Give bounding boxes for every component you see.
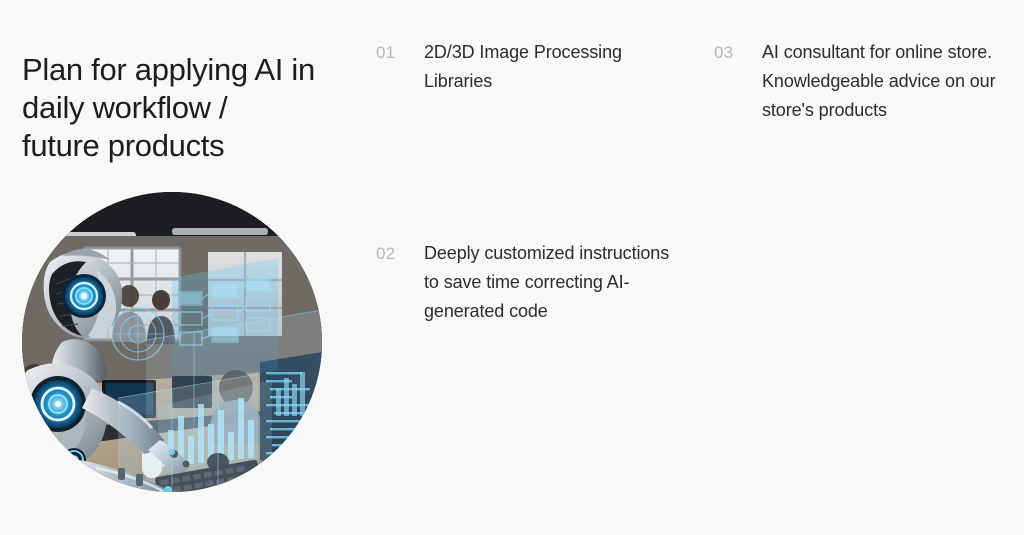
list-item: 03 AI consultant for online store. Knowl…	[714, 38, 1014, 125]
list-item-number: 02	[376, 239, 424, 268]
list-item-text: Deeply customized instructions to save t…	[424, 239, 676, 326]
office-robot-illustration	[22, 192, 322, 492]
list-item-number: 03	[714, 38, 762, 67]
page-title: Plan for applying AI in daily workflow /…	[22, 51, 352, 165]
list-item: 01 2D/3D Image Processing Libraries	[376, 38, 676, 96]
list-item-text: AI consultant for online store. Knowledg…	[762, 38, 1014, 125]
list-item: 02 Deeply customized instructions to sav…	[376, 239, 676, 326]
circular-photo	[22, 192, 322, 492]
list-item-number: 01	[376, 38, 424, 67]
list-item-text: 2D/3D Image Processing Libraries	[424, 38, 676, 96]
slide-root: Plan for applying AI in daily workflow /…	[0, 0, 1024, 535]
